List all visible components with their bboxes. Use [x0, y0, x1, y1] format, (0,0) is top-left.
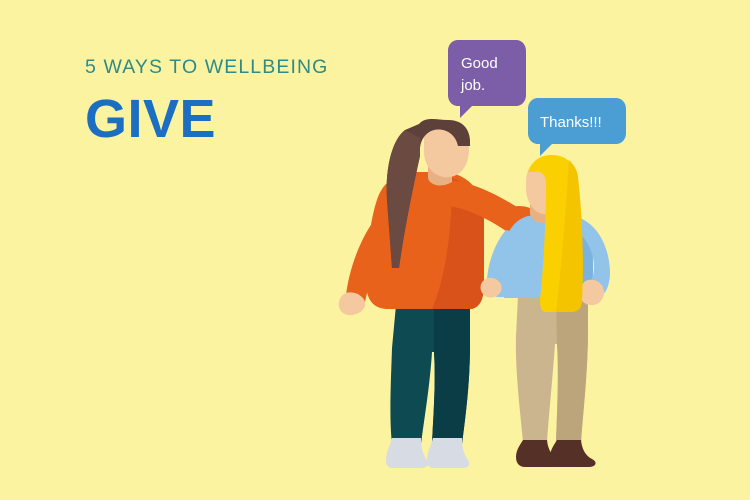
- poster-canvas: 5 WAYS TO WELLBEING GIVE: [0, 0, 750, 500]
- bubble-good-job-line1: Good: [461, 55, 498, 72]
- headline-block: 5 WAYS TO WELLBEING GIVE: [85, 58, 328, 146]
- child-shoes: [516, 440, 596, 467]
- bubble-good-job-line2: job.: [460, 77, 485, 94]
- bubble-thanks-line1: Thanks!!!: [540, 114, 602, 131]
- speech-bubble-good-job: Good job.: [448, 40, 526, 118]
- speech-bubble-thanks: Thanks!!!: [528, 98, 626, 156]
- child-pants: [516, 296, 588, 442]
- eyebrow-text: 5 WAYS TO WELLBEING: [85, 58, 328, 78]
- adult-pants: [390, 305, 470, 444]
- child-right-hand: [579, 280, 604, 305]
- page-title: GIVE: [85, 92, 328, 146]
- adult-shoes: [386, 438, 469, 468]
